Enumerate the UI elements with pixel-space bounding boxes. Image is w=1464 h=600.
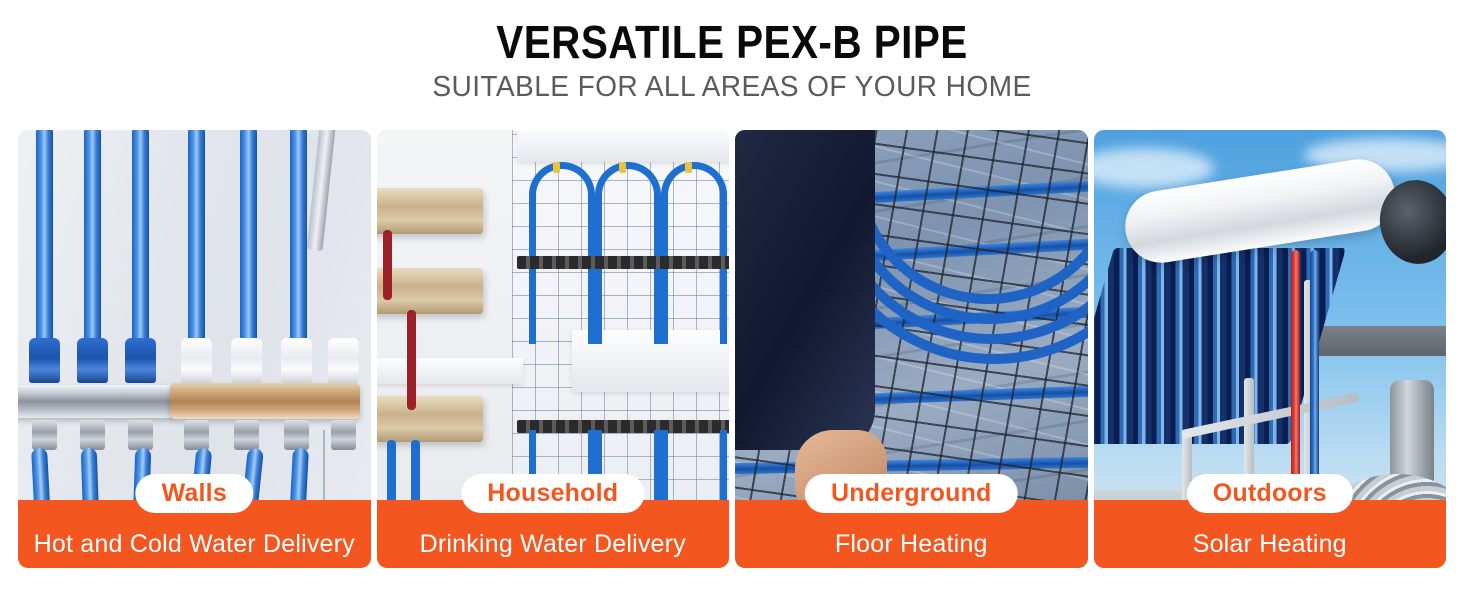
panel-badge-household: Household	[461, 474, 644, 513]
brass-manifold-upper	[377, 188, 483, 234]
panel-badge-walls: Walls	[136, 474, 253, 513]
panel-badge-label: Outdoors	[1213, 479, 1327, 507]
worker-sleeve	[735, 130, 875, 450]
feature-panel-walls[interactable]: Walls Hot and Cold Water Delivery	[18, 130, 371, 568]
feature-panel-household[interactable]: Household Drinking Water Delivery	[377, 130, 730, 568]
brass-manifold-middle	[377, 268, 483, 314]
page-title: VERSATILE PEX-B PIPE	[88, 18, 1376, 66]
feature-panel-underground[interactable]: Underground Floor Heating	[735, 130, 1088, 568]
panel-badge-outdoors: Outdoors	[1187, 474, 1353, 513]
feature-panel-strip: Walls Hot and Cold Water Delivery	[18, 130, 1446, 568]
panel-badge-underground: Underground	[805, 474, 1018, 513]
panel-caption-label: Hot and Cold Water Delivery	[34, 531, 355, 559]
panel-caption-label: Drinking Water Delivery	[420, 531, 686, 559]
feature-panel-outdoors[interactable]: Outdoors Solar Heating	[1094, 130, 1447, 568]
panel-caption-label: Floor Heating	[835, 531, 988, 559]
page-subtitle: SUITABLE FOR ALL AREAS OF YOUR HOME	[22, 72, 1442, 104]
panel-badge-label: Household	[487, 479, 618, 507]
brass-manifold-lower	[377, 396, 483, 442]
panel-caption-label: Solar Heating	[1193, 531, 1347, 559]
panel-badge-label: Walls	[162, 479, 227, 507]
panel-badge-label: Underground	[831, 479, 992, 507]
banner-header: VERSATILE PEX-B PIPE SUITABLE FOR ALL AR…	[0, 0, 1464, 104]
